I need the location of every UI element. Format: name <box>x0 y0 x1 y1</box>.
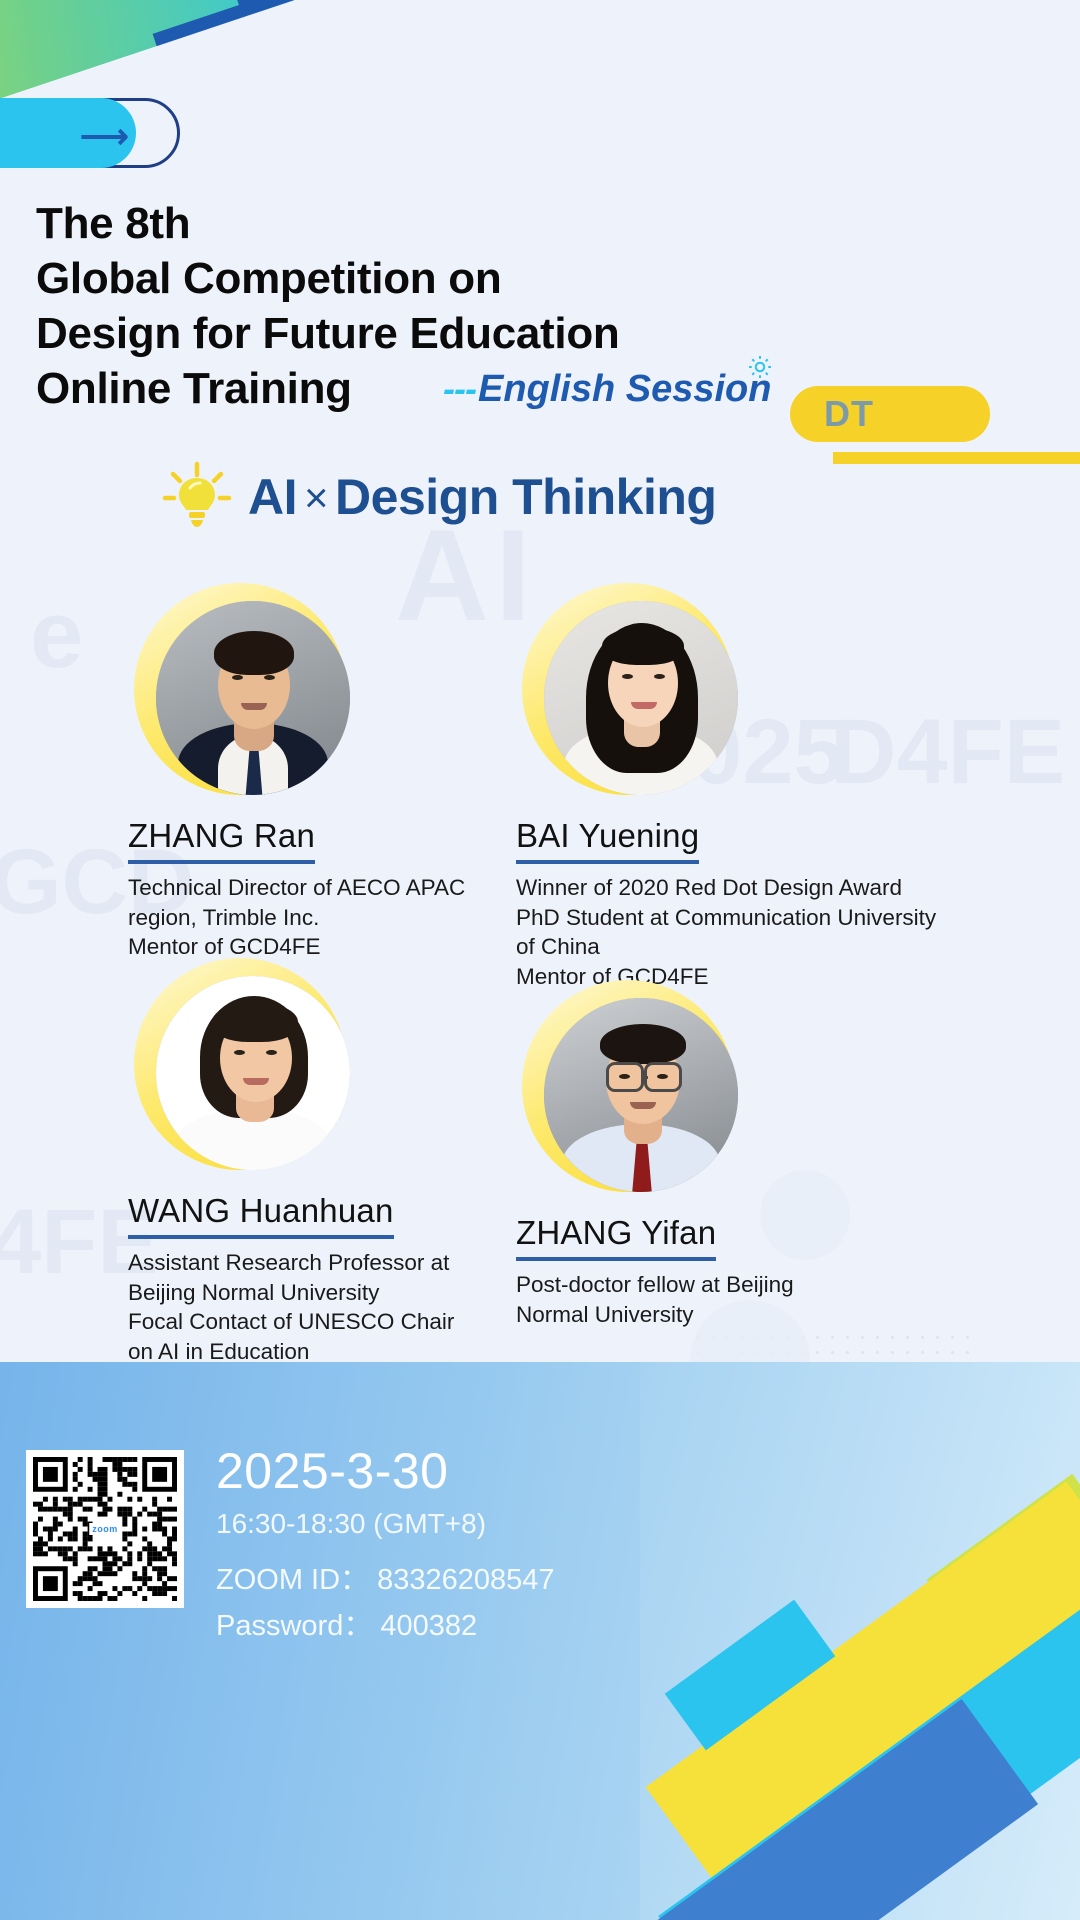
speaker-bio-line: Focal Contact of UNESCO Chair <box>128 1307 454 1337</box>
session-dash: --- <box>443 368 476 410</box>
footer: zoom 2025-3-30 16:30-18:30 (GMT+8) ZOOM … <box>0 1362 1080 1920</box>
event-time: 16:30-18:30 (GMT+8) <box>216 1508 486 1540</box>
speaker-bio-line: Post-doctor fellow at Beijing <box>516 1270 794 1300</box>
avatar <box>134 958 346 1170</box>
speaker-name: BAI Yuening <box>516 817 699 864</box>
speaker-bio-line: Beijing Normal University <box>128 1278 454 1308</box>
event-date: 2025-3-30 <box>216 1442 448 1500</box>
speaker-bio: Winner of 2020 Red Dot Design Award PhD … <box>516 873 936 992</box>
headline-line-3: Design for Future Education <box>36 306 736 361</box>
speaker-bio-line: Winner of 2020 Red Dot Design Award <box>516 873 936 903</box>
theme-multiply-icon: × <box>297 474 335 521</box>
speaker-bio-line: PhD Student at Communication University <box>516 903 936 933</box>
speaker-card: BAI Yuening Winner of 2020 Red Dot Desig… <box>516 583 936 992</box>
avatar-photo <box>544 998 738 1192</box>
theme-design-thinking: Design Thinking <box>335 469 716 525</box>
theme-text: AI×Design Thinking <box>248 468 716 526</box>
speaker-bio-line: region, Trimble Inc. <box>128 903 465 933</box>
lightbulb-icon <box>160 460 234 534</box>
avatar-photo <box>156 601 350 795</box>
qr-code-image: zoom <box>33 1457 177 1601</box>
speaker-bio-line: of China <box>516 932 936 962</box>
session-label-group: --- English Session <box>443 368 772 411</box>
headline-line-2: Global Competition on <box>36 251 736 306</box>
avatar <box>522 583 734 795</box>
speaker-bio-line: Normal University <box>516 1300 794 1330</box>
speaker-name: ZHANG Ran <box>128 817 315 864</box>
poster-root: AI 2025 D4FE GCD e 354 4FE e AI <box>0 0 1080 1920</box>
headline-line-1: The 8th <box>36 196 736 251</box>
speaker-name: ZHANG Yifan <box>516 1214 716 1261</box>
speaker-card: ZHANG Ran Technical Director of AECO APA… <box>128 583 465 962</box>
speaker-bio-line: Assistant Research Professor at <box>128 1248 454 1278</box>
zoom-password: Password： 400382 <box>216 1602 477 1644</box>
arrow-right-icon: ⟶ <box>80 120 129 154</box>
speaker-bio: Technical Director of AECO APAC region, … <box>128 873 465 962</box>
watermark-e: e <box>30 580 83 690</box>
avatar <box>134 583 346 795</box>
gear-icon <box>745 352 775 382</box>
avatar <box>522 980 734 1192</box>
session-label: English Session <box>478 368 772 411</box>
qr-code[interactable]: zoom <box>26 1450 184 1608</box>
theme-line: AI×Design Thinking <box>160 460 716 534</box>
avatar-photo <box>544 601 738 795</box>
zoom-id: ZOOM ID： 83326208547 <box>216 1556 555 1598</box>
speaker-name: WANG Huanhuan <box>128 1192 394 1239</box>
avatar-photo <box>156 976 350 1170</box>
qr-zoom-label: zoom <box>89 1523 121 1535</box>
speaker-card: WANG Huanhuan Assistant Research Profess… <box>128 958 454 1396</box>
speaker-bio-line: Technical Director of AECO APAC <box>128 873 465 903</box>
speaker-card: ZHANG Yifan Post-doctor fellow at Beijin… <box>516 980 794 1329</box>
speaker-bio: Post-doctor fellow at Beijing Normal Uni… <box>516 1270 794 1329</box>
theme-ai: AI <box>248 469 297 525</box>
dt-badge-bar <box>833 452 1080 464</box>
dt-badge: DT <box>790 386 990 442</box>
